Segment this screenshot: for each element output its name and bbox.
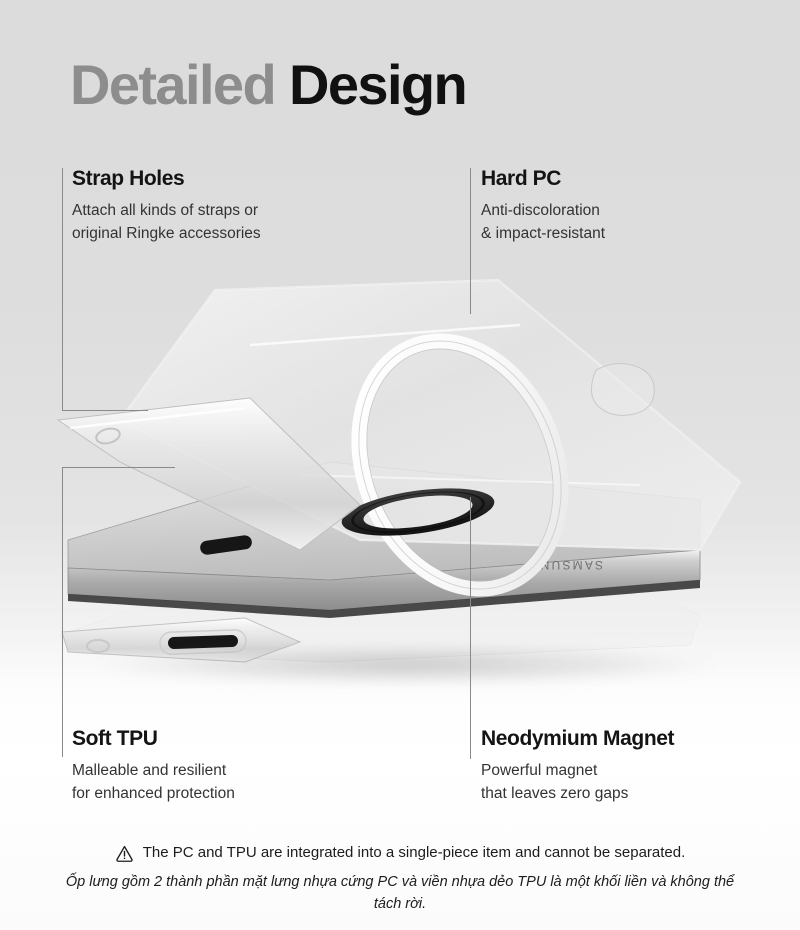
- callout-neodymium-magnet-line2: that leaves zero gaps: [481, 783, 674, 805]
- page-title-black: Design: [275, 53, 466, 116]
- callout-soft-tpu-heading: Soft TPU: [72, 726, 235, 751]
- callout-strap-holes-heading: Strap Holes: [72, 166, 261, 191]
- callout-soft-tpu-line1: Malleable and resilient: [72, 760, 235, 782]
- callout-neodymium-magnet-body: Powerful magnet that leaves zero gaps: [481, 760, 674, 805]
- callout-hard-pc-line2: & impact-resistant: [481, 223, 605, 245]
- leader-line-soft-tpu-vertical: [62, 467, 63, 757]
- leader-line-hard-pc: [470, 168, 471, 314]
- callout-strap-holes-line2: original Ringke accessories: [72, 223, 261, 245]
- infographic-page: Detailed Design: [0, 0, 800, 930]
- callout-strap-holes-line1: Attach all kinds of straps or: [72, 200, 261, 222]
- footer-notice-english-row: The PC and TPU are integrated into a sin…: [0, 842, 800, 865]
- footer-notice-vietnamese-text: Ốp lưng gồm 2 thành phần mặt lưng nhựa c…: [0, 871, 800, 916]
- leader-line-strap-holes-vertical: [62, 168, 63, 411]
- callout-strap-holes-body: Attach all kinds of straps or original R…: [72, 200, 261, 245]
- callout-soft-tpu-body: Malleable and resilient for enhanced pro…: [72, 760, 235, 805]
- callout-hard-pc-heading: Hard PC: [481, 166, 605, 191]
- callout-soft-tpu-line2: for enhanced protection: [72, 783, 235, 805]
- callout-soft-tpu: Soft TPU Malleable and resilient for enh…: [72, 726, 235, 805]
- product-illustration: SAMSUNG: [0, 250, 800, 680]
- callout-neodymium-magnet-line1: Powerful magnet: [481, 760, 674, 782]
- callout-hard-pc-line1: Anti-discoloration: [481, 200, 605, 222]
- warning-triangle-icon: [115, 844, 134, 863]
- callout-neodymium-magnet: Neodymium Magnet Powerful magnet that le…: [481, 726, 674, 805]
- callout-hard-pc: Hard PC Anti-discoloration & impact-resi…: [481, 166, 605, 245]
- footer-notice: The PC and TPU are integrated into a sin…: [0, 842, 800, 915]
- product-photo: SAMSUNG: [0, 250, 800, 680]
- page-title-gray: Detailed: [70, 53, 275, 116]
- callout-strap-holes: Strap Holes Attach all kinds of straps o…: [72, 166, 261, 245]
- page-title: Detailed Design: [70, 56, 466, 115]
- callout-neodymium-magnet-heading: Neodymium Magnet: [481, 726, 674, 751]
- footer-notice-english-text: The PC and TPU are integrated into a sin…: [143, 842, 686, 865]
- leader-line-neodymium-magnet: [470, 497, 471, 759]
- callout-hard-pc-body: Anti-discoloration & impact-resistant: [481, 200, 605, 245]
- leader-line-soft-tpu-horizontal: [62, 467, 175, 468]
- leader-line-strap-holes-horizontal: [62, 410, 148, 411]
- product-shadow: [95, 645, 715, 685]
